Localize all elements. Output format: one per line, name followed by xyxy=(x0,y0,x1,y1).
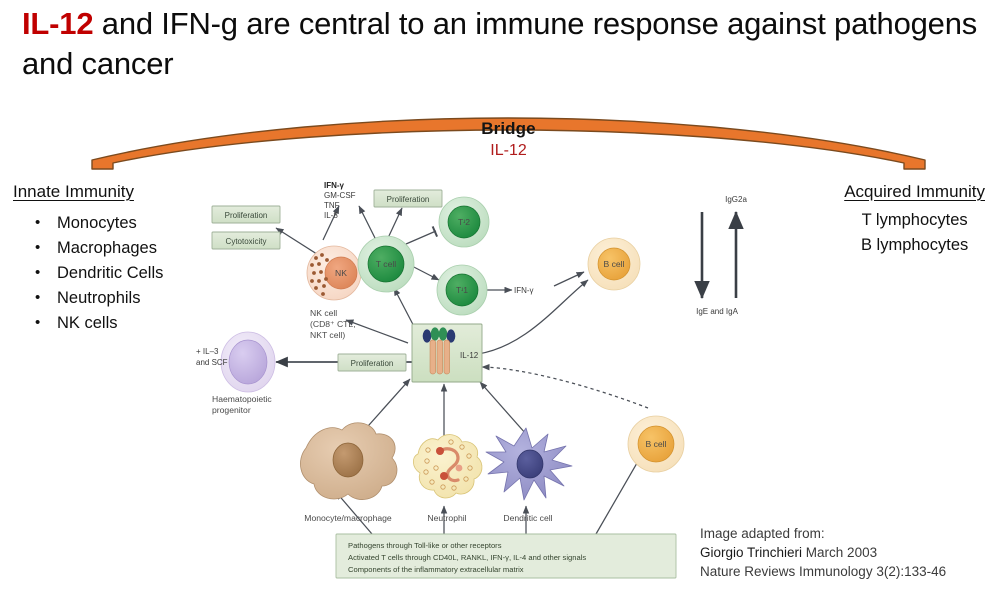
tcell-label: T cell xyxy=(376,259,396,269)
th2-label: Tʴ2 xyxy=(458,217,470,227)
proliferation-box-progenitor: Proliferation xyxy=(338,354,406,371)
ifng-label: IFN-γ xyxy=(324,181,345,190)
haematopoietic-progenitor-cell: Haematopoietic progenitor + IL–3 and SCF xyxy=(196,332,275,415)
proliferation-tcell-label: Proliferation xyxy=(387,195,430,204)
slide-title: IL-12 and IFN-g are central to an immune… xyxy=(22,4,992,84)
proliferation-box-tcell: Proliferation xyxy=(374,190,442,207)
proliferation-nk-label: Proliferation xyxy=(225,211,268,220)
list-item: NK cells xyxy=(35,311,218,336)
list-item: Dendritic Cells xyxy=(35,261,218,286)
cytotoxicity-label: Cytotoxicity xyxy=(226,237,267,246)
nk-name-line1: NK cell xyxy=(310,308,337,318)
il12-pathway-diagram: Proliferation Cytotoxicity Proliferation… xyxy=(196,176,836,586)
bridge-subtitle: IL-12 xyxy=(86,142,931,160)
bcell-top-label: B cell xyxy=(603,259,624,269)
proliferation-box-nk: Proliferation xyxy=(212,206,280,223)
list-item: B lymphocytes xyxy=(844,233,985,258)
neutrophil-label: Neutrophil xyxy=(427,513,466,523)
il8-label: IL-8 xyxy=(324,211,338,220)
cytokine-list: IFN-γ GM-CSF TNF IL-8 xyxy=(324,181,356,220)
list-item: T lymphocytes xyxy=(844,208,985,233)
bcell-bottom-label: B cell xyxy=(645,439,666,449)
monocyte-macrophage-cell: Monocyte/macrophage xyxy=(300,423,397,523)
progenitor-name-line1: Haematopoietic xyxy=(212,394,272,404)
acquired-immunity-panel: Acquired Immunity T lymphocytes B lympho… xyxy=(844,182,985,258)
th1-cell: Tʴ1 xyxy=(437,265,487,315)
stimuli-box: Pathogens through Toll-like or other rec… xyxy=(336,534,676,578)
ifng-th1-label: IFN-γ xyxy=(514,286,534,295)
progenitor-name-line2: progenitor xyxy=(212,405,251,415)
cytotoxicity-box: Cytotoxicity xyxy=(212,232,280,249)
nk-name-line3: NKT cell) xyxy=(310,330,345,340)
stimuli-line-2: Activated T cells through CD40L, RANKL, … xyxy=(348,553,586,562)
bridge-banner: Bridge IL-12 xyxy=(86,112,931,174)
innate-immunity-list: Monocytes Macrophages Dendritic Cells Ne… xyxy=(13,211,218,336)
b-cell-top: B cell xyxy=(588,238,640,290)
il12-box: IL-12 xyxy=(412,324,482,382)
monocyte-label: Monocyte/macrophage xyxy=(304,513,392,523)
b-cell-bottom: B cell xyxy=(628,416,684,472)
tnf-label: TNF xyxy=(324,201,340,210)
il3-scf-line1: + IL–3 xyxy=(196,347,219,356)
ige-iga-label: IgE and IgA xyxy=(696,307,738,316)
innate-immunity-heading: Innate Immunity xyxy=(13,182,218,202)
th1-label: Tʴ1 xyxy=(456,285,468,295)
nk-core-label: NK xyxy=(335,268,347,278)
list-item: Macrophages xyxy=(35,236,218,261)
list-item: Neutrophils xyxy=(35,286,218,311)
stimuli-line-1: Pathogens through Toll-like or other rec… xyxy=(348,541,502,550)
t-cell: T cell xyxy=(358,236,414,292)
list-item: Monocytes xyxy=(35,211,218,236)
title-accent-text: IL-12 xyxy=(22,6,93,41)
il12-label: IL-12 xyxy=(460,351,479,360)
th2-cell: Tʴ2 xyxy=(439,197,489,247)
immunoglobulin-arrows xyxy=(702,212,736,298)
stimuli-line-3: Components of the inflammatory extracell… xyxy=(348,565,524,574)
dendritic-label: Dendritic cell xyxy=(503,513,552,523)
diagram-svg: Proliferation Cytotoxicity Proliferation… xyxy=(196,176,836,586)
bridge-title: Bridge xyxy=(86,119,931,139)
neutrophil-cell: Neutrophil xyxy=(413,435,482,523)
innate-immunity-panel: Innate Immunity Monocytes Macrophages De… xyxy=(13,182,218,336)
acquired-immunity-heading: Acquired Immunity xyxy=(844,182,985,202)
il3-scf-line2: and SCF xyxy=(196,358,228,367)
proliferation-progenitor-label: Proliferation xyxy=(351,359,394,368)
dendritic-cell: Dendritic cell xyxy=(486,428,572,523)
nk-name-line2: (CD8⁺ CTL, xyxy=(310,319,356,329)
nk-cell: NK NK cell (CD8⁺ CTL, NKT cell) xyxy=(307,246,361,340)
gmcsf-label: GM-CSF xyxy=(324,191,356,200)
title-rest-text: and IFN-g are central to an immune respo… xyxy=(22,6,977,81)
acquired-immunity-list: T lymphocytes B lymphocytes xyxy=(844,208,985,258)
igg2a-label: IgG2a xyxy=(725,195,747,204)
